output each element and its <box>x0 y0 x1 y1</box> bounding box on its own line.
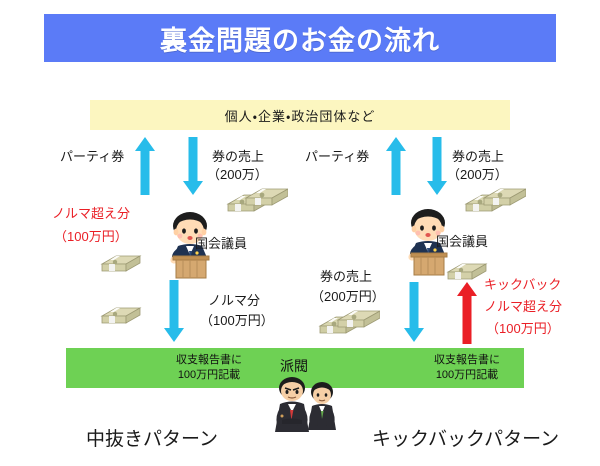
arrow-shaft <box>410 282 419 329</box>
report-right-line1: 収支報告書に <box>434 353 500 368</box>
report-left-line1: 収支報告書に <box>176 353 242 368</box>
label-diet-member-right: 国会議員 <box>436 233 488 251</box>
label-ticket-sales2-right-line2: （200万円） <box>311 288 385 306</box>
money-stack-icon <box>226 184 288 218</box>
label-kickback-line1: キックバック <box>484 276 561 294</box>
label-over-quota-left-line1: ノルマ超え分 <box>52 205 130 223</box>
source-box-label: 個人・企業・政治団体など <box>225 106 376 125</box>
money-stack-icon <box>100 300 152 328</box>
arrow-down-quota-left <box>164 280 184 342</box>
arrow-up-kickback <box>456 282 478 344</box>
infographic-canvas: 裏金問題のお金の流れ 個人・企業・政治団体など パーティ券 券の売上 （200万… <box>0 0 600 466</box>
arrow-shaft <box>463 295 472 344</box>
report-right-line2: 100万円記載 <box>434 368 500 383</box>
arrow-up-party-ticket-left <box>135 137 155 195</box>
title-banner: 裏金問題のお金の流れ <box>44 14 556 62</box>
arrow-head-icon <box>404 328 424 342</box>
arrow-head-icon <box>386 137 406 151</box>
label-over-quota-left-line2: （100万円） <box>54 228 128 246</box>
arrow-head-icon <box>135 137 155 151</box>
arrow-down-ticket-sales-left <box>183 137 203 195</box>
arrow-up-party-ticket-right <box>386 137 406 195</box>
report-left-line2: 100万円記載 <box>176 368 242 383</box>
label-ticket-sales-left-line2: （200万） <box>207 166 268 184</box>
label-ticket-sales-right-line2: （200万） <box>447 166 508 184</box>
money-stack-icon <box>100 248 152 276</box>
arrow-shaft <box>392 150 401 195</box>
label-ticket-sales2-right-line1: 券の売上 <box>320 268 372 286</box>
report-label-left: 収支報告書に 100万円記載 <box>176 353 242 383</box>
caption-pattern-left: 中抜きパターン <box>86 424 218 451</box>
report-label-right: 収支報告書に 100万円記載 <box>434 353 500 383</box>
arrow-down-report-right <box>404 282 424 342</box>
page-title: 裏金問題のお金の流れ <box>160 19 440 58</box>
faction-avatars-icon <box>270 374 348 436</box>
source-box: 個人・企業・政治団体など <box>90 100 510 130</box>
arrow-shaft <box>189 137 198 182</box>
arrow-shaft <box>433 137 442 182</box>
label-quota-left-line1: ノルマ分 <box>208 292 260 310</box>
arrow-shaft <box>141 150 150 195</box>
label-quota-left-line2: （100万円） <box>200 312 274 330</box>
arrow-head-icon <box>427 181 447 195</box>
label-party-ticket-left: パーティ券 <box>60 148 124 166</box>
label-party-ticket-right: パーティ券 <box>305 148 369 166</box>
arrow-down-ticket-sales-right <box>427 137 447 195</box>
label-kickback-line3: （100万円） <box>486 320 560 338</box>
label-ticket-sales-left-line1: 券の売上 <box>212 148 264 166</box>
label-kickback-line2: ノルマ超え分 <box>484 298 562 316</box>
money-stack-icon <box>318 306 380 340</box>
arrow-shaft <box>170 280 179 329</box>
label-diet-member-left: 国会議員 <box>195 235 247 253</box>
arrow-head-icon <box>457 282 477 296</box>
arrow-head-icon <box>164 328 184 342</box>
arrow-head-icon <box>183 181 203 195</box>
faction-label: 派閥 <box>280 356 308 376</box>
caption-pattern-right: キックバックパターン <box>372 424 559 451</box>
label-ticket-sales-right-line1: 券の売上 <box>452 148 504 166</box>
money-stack-icon <box>464 184 526 218</box>
